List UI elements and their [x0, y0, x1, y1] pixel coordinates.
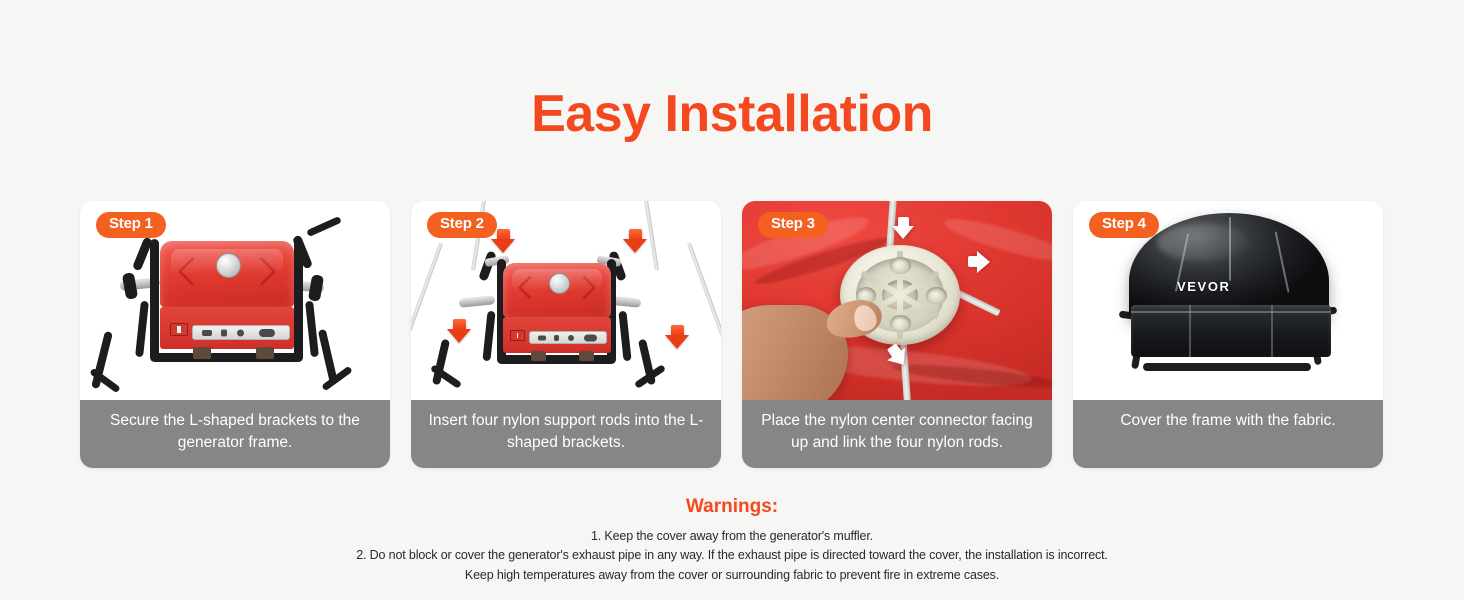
fuel-cap: [216, 253, 241, 278]
panel-socket: [259, 329, 275, 337]
skirt-divider-right: [1271, 305, 1273, 357]
connector-socket-bottom: [890, 315, 910, 332]
steps-row: Step 1 Secure the L-shaped brackets to t…: [80, 201, 1384, 468]
generator-foot-right: [579, 351, 594, 361]
tank-chevron-right: [572, 275, 596, 299]
skirt-divider-left: [1189, 305, 1191, 357]
step-badge-3: Step 3: [758, 212, 828, 238]
panel-knob-1: [202, 330, 212, 336]
tank-chevron-left: [178, 257, 208, 287]
warning-line-3: Keep high temperatures away from the cov…: [0, 566, 1464, 585]
bracket-left-sleeve: [459, 295, 496, 308]
panel-knob-2: [221, 329, 227, 336]
nylon-rod-outer-right: [687, 242, 721, 366]
frame-bottom-rail: [497, 355, 616, 364]
warnings-section: Warnings: 1. Keep the cover away from th…: [0, 496, 1464, 585]
dome-seam-center: [1229, 217, 1231, 281]
tank-chevron-right: [247, 257, 277, 287]
bracket-right-clamp: [308, 274, 324, 302]
step-caption-3: Place the nylon center connector facing …: [742, 400, 1052, 468]
connector-socket-right: [926, 287, 946, 304]
frame-loop-left: [482, 311, 495, 362]
nylon-rod-inner-right: [643, 201, 659, 271]
page-title: Easy Installation: [0, 88, 1464, 140]
step-3-image: Step 3: [742, 201, 1052, 400]
warning-line-1: 1. Keep the cover away from the generato…: [0, 527, 1464, 546]
frame-loop-right: [305, 301, 319, 358]
frame-right-post: [294, 239, 303, 361]
frame-left-post: [150, 239, 159, 361]
nylon-rod-outer-left: [411, 242, 443, 366]
dome-highlight: [1157, 224, 1249, 261]
generator-foot-right: [256, 347, 274, 359]
generator-foot-left: [531, 351, 546, 361]
control-panel: [192, 325, 290, 340]
frame-loop-right: [618, 311, 631, 362]
panel-knob-2: [554, 335, 559, 341]
skirt-top-band: [1131, 311, 1331, 313]
fuel-cap: [549, 273, 570, 294]
panel-outlet: [237, 329, 244, 336]
power-switch: [510, 330, 525, 341]
panel-outlet: [568, 335, 574, 341]
warnings-title: Warnings:: [0, 496, 1464, 519]
step-badge-1: Step 1: [96, 212, 166, 238]
panel-socket: [584, 334, 597, 341]
step-badge-2: Step 2: [427, 212, 497, 238]
frame-bottom-rail: [150, 353, 303, 362]
step-card-2[interactable]: Step 2 Insert four nylon support rods in…: [411, 201, 721, 468]
step-card-1[interactable]: Step 1 Secure the L-shaped brackets to t…: [80, 201, 390, 468]
surface-crease-3: [941, 212, 1052, 269]
connector-socket-top: [890, 257, 910, 274]
step-card-3[interactable]: Step 3 Place the nylon center connector …: [742, 201, 1052, 468]
tank-chevron-left: [517, 275, 541, 299]
panel-knob-1: [538, 335, 546, 340]
bracket-rear-right-arm: [306, 216, 342, 237]
dome-seam-right: [1275, 231, 1290, 292]
frame-loop-left: [135, 301, 149, 358]
warning-line-2: 2. Do not block or cover the generator's…: [0, 546, 1464, 565]
step-2-image: Step 2: [411, 201, 721, 400]
cover-skirt: [1131, 305, 1331, 357]
generator-foot-left: [193, 347, 211, 359]
vevor-logo: VEVOR: [1177, 279, 1231, 294]
control-panel: [529, 331, 607, 344]
bracket-left-clamp: [122, 272, 138, 300]
power-switch: [170, 323, 188, 336]
step-caption-1: Secure the L-shaped brackets to the gene…: [80, 400, 390, 468]
step-caption-2: Insert four nylon support rods into the …: [411, 400, 721, 468]
frame-base-rail: [1143, 363, 1311, 371]
step-4-image: VEVOR Step 4: [1073, 201, 1383, 400]
step-caption-4: Cover the frame with the fabric.: [1073, 400, 1383, 468]
step-badge-4: Step 4: [1089, 212, 1159, 238]
step-1-image: Step 1: [80, 201, 390, 400]
step-card-4[interactable]: VEVOR Step 4 Cover the frame with the fa…: [1073, 201, 1383, 468]
